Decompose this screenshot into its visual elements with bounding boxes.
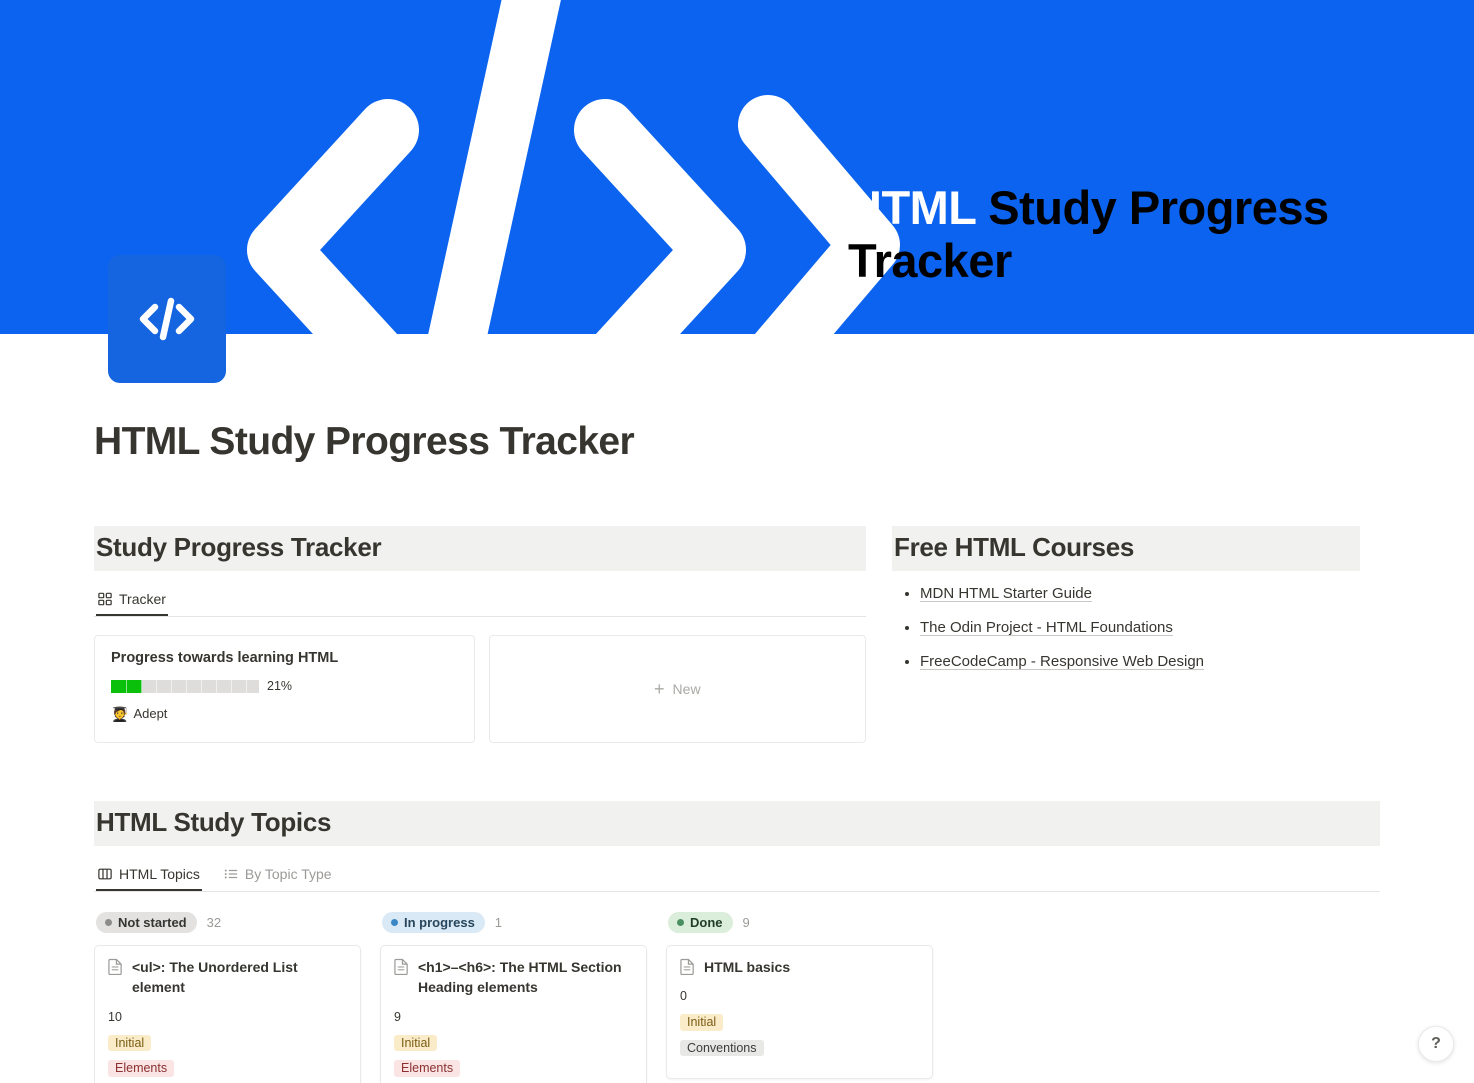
tag-row: Elements — [394, 1060, 633, 1083]
list-icon — [224, 867, 238, 881]
tab-by-topic-type[interactable]: By Topic Type — [222, 862, 334, 891]
status-badge[interactable]: Done — [668, 912, 733, 933]
banner-title: HTML Study Progress Tracker — [848, 182, 1448, 287]
board-column: In progress1<h1>–<h6>: The HTML Section … — [380, 908, 647, 1083]
status-dot-icon — [677, 919, 684, 926]
list-item: The Odin Project - HTML Foundations — [920, 619, 1360, 636]
study-progress-tracker-heading: Study Progress Tracker — [94, 526, 866, 571]
kanban-card-title-text: <h1>–<h6>: The HTML Section Heading elem… — [418, 957, 633, 998]
tag-badge: Elements — [108, 1060, 174, 1077]
list-item: FreeCodeCamp - Responsive Web Design — [920, 653, 1360, 670]
status-dot-icon — [391, 919, 398, 926]
status-dot-icon — [105, 919, 112, 926]
level-row: 🧑‍🎓 Adept — [111, 706, 458, 721]
tracker-card[interactable]: Progress towards learning HTML — [94, 635, 475, 743]
tag-badge: Elements — [394, 1060, 460, 1077]
status-label: In progress — [404, 915, 475, 930]
code-brackets-banner-art — [150, 0, 910, 334]
document-icon — [680, 958, 695, 975]
topics-tab-bar: HTML Topics By Topic Type — [94, 862, 1380, 892]
kanban-card-title: HTML basics — [680, 957, 919, 977]
board-column-header: In progress1 — [380, 908, 647, 945]
kanban-card-title-text: <ul>: The Unordered List element — [132, 957, 347, 998]
board-column-header: Done9 — [666, 908, 933, 945]
tracker-card-row: Progress towards learning HTML — [94, 635, 866, 743]
board-column: Done9HTML basics0InitialConventionsNamin… — [666, 908, 933, 1083]
kanban-card-number: 10 — [108, 1010, 347, 1024]
help-button[interactable]: ? — [1418, 1026, 1454, 1062]
board-column-header: Not started32 — [94, 908, 361, 945]
graduate-emoji-icon: 🧑‍🎓 — [111, 707, 128, 721]
page-icon[interactable] — [108, 255, 226, 383]
new-tracker-button[interactable]: + New — [489, 635, 866, 743]
html-study-topics-heading: HTML Study Topics — [94, 801, 1380, 846]
status-label: Not started — [118, 915, 187, 930]
kanban-card[interactable]: <h1>–<h6>: The HTML Section Heading elem… — [380, 945, 647, 1083]
tag-row: Initial — [680, 1014, 919, 1040]
tag-row: Conventions — [680, 1040, 919, 1066]
tag-badge: Conventions — [680, 1040, 764, 1057]
kanban-card[interactable]: <ul>: The Unordered List element10Initia… — [94, 945, 361, 1083]
status-badge[interactable]: Not started — [96, 912, 197, 933]
tracker-tab-bar: Tracker — [94, 587, 866, 617]
column-count: 32 — [207, 915, 221, 930]
progress-row: 21% — [111, 679, 458, 693]
course-link[interactable]: MDN HTML Starter Guide — [920, 585, 1092, 602]
tab-html-topics[interactable]: HTML Topics — [96, 862, 202, 891]
tab-html-topics-label: HTML Topics — [119, 866, 200, 882]
tab-tracker[interactable]: Tracker — [96, 587, 168, 616]
document-icon — [108, 958, 123, 975]
column-count: 9 — [743, 915, 750, 930]
progress-percent-label: 21% — [267, 679, 292, 693]
right-column: Free HTML Courses MDN HTML Starter Guide… — [892, 526, 1360, 687]
tag-badge: Initial — [394, 1035, 437, 1052]
page-content: HTML Study Progress Tracker Study Progre… — [0, 420, 1474, 1083]
document-icon — [394, 958, 409, 975]
board-icon — [98, 867, 112, 881]
tab-by-topic-type-label: By Topic Type — [245, 866, 332, 882]
free-html-courses-heading: Free HTML Courses — [892, 526, 1360, 571]
two-column-layout: Study Progress Tracker Tracker Progress … — [94, 526, 1380, 743]
tab-tracker-label: Tracker — [119, 591, 166, 607]
tag-row: Elements — [108, 1060, 347, 1083]
code-brackets-icon — [132, 291, 202, 347]
kanban-card-title: <h1>–<h6>: The HTML Section Heading elem… — [394, 957, 633, 998]
question-mark-icon: ? — [1431, 1035, 1441, 1053]
banner-title-highlight: HTML — [848, 181, 976, 234]
list-item: MDN HTML Starter Guide — [920, 585, 1360, 602]
kanban-card[interactable]: HTML basics0InitialConventions — [666, 945, 933, 1079]
status-label: Done — [690, 915, 723, 930]
tag-row: Initial — [108, 1035, 347, 1061]
html-study-topics-section: HTML Study Topics HTML Topics — [94, 801, 1380, 1083]
level-label: Adept — [133, 706, 167, 721]
board-column: Not started32<ul>: The Unordered List el… — [94, 908, 361, 1083]
course-link[interactable]: The Odin Project - HTML Foundations — [920, 619, 1173, 636]
tag-row: Initial — [394, 1035, 633, 1061]
new-tracker-label: New — [673, 681, 701, 697]
left-column: Study Progress Tracker Tracker Progress … — [94, 526, 866, 743]
course-link[interactable]: FreeCodeCamp - Responsive Web Design — [920, 653, 1204, 670]
courses-link-list: MDN HTML Starter Guide The Odin Project … — [892, 585, 1360, 670]
tag-badge: Initial — [108, 1035, 151, 1052]
tag-badge: Initial — [680, 1014, 723, 1031]
kanban-card-number: 9 — [394, 1010, 633, 1024]
tracker-card-title: Progress towards learning HTML — [111, 650, 458, 666]
progress-bar-track — [111, 680, 259, 693]
kanban-card-title-text: HTML basics — [704, 957, 919, 977]
column-count: 1 — [495, 915, 502, 930]
page-title: HTML Study Progress Tracker — [94, 420, 1380, 464]
kanban-board: Not started32<ul>: The Unordered List el… — [94, 908, 1380, 1083]
plus-icon: + — [654, 680, 665, 698]
status-badge[interactable]: In progress — [382, 912, 485, 933]
gallery-icon — [98, 592, 112, 606]
kanban-card-number: 0 — [680, 989, 919, 1003]
kanban-card-title: <ul>: The Unordered List element — [108, 957, 347, 998]
